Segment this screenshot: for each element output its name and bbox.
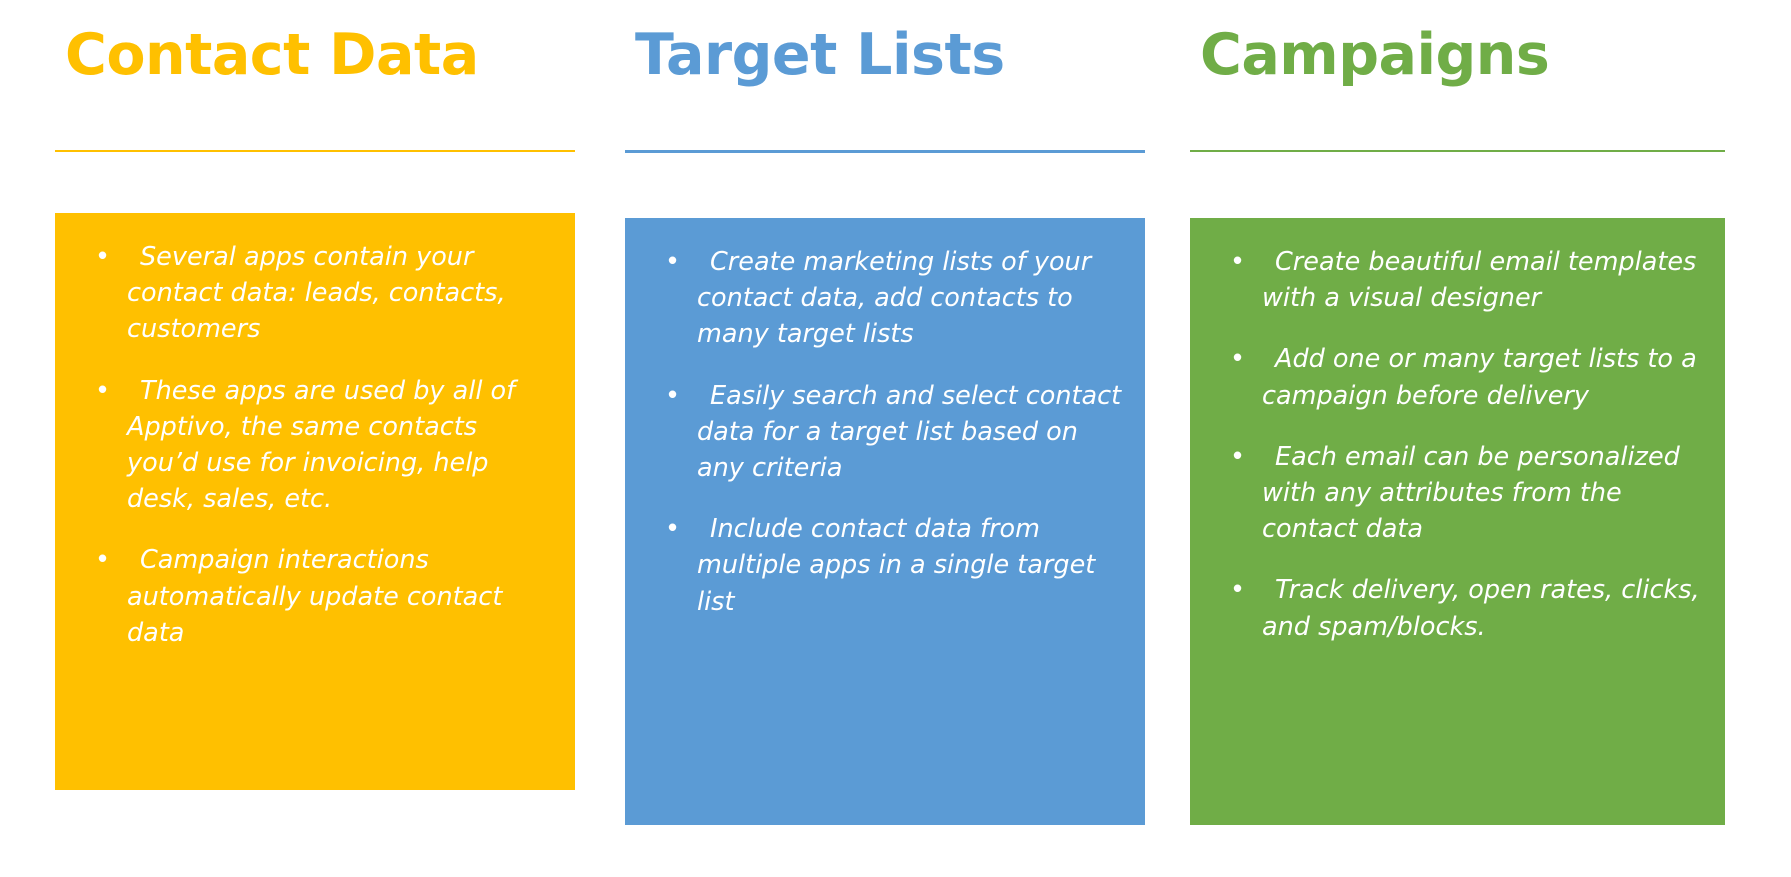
list-item-text: Include contact data from multiple apps … (697, 511, 1123, 620)
list-item-text: Create beautiful email templates with a … (1262, 244, 1703, 316)
bullet-point-icon: • (95, 542, 115, 578)
list-item: • These apps are used by all of Apptivo,… (81, 373, 553, 518)
bullet-point-icon: • (1230, 244, 1250, 280)
column-heading-campaigns: Campaigns (1200, 26, 1549, 86)
heading-divider-contact-data (55, 150, 575, 152)
list-item: • Create beautiful email templates with … (1216, 244, 1703, 316)
bullet-point-icon: • (665, 511, 685, 547)
column-heading-contact-data: Contact Data (65, 26, 479, 86)
bullet-point-icon: • (665, 378, 685, 414)
bullet-list-contact-data: • Several apps contain your contact data… (81, 239, 553, 651)
bullet-point-icon: • (665, 244, 685, 280)
bullet-list-campaigns: • Create beautiful email templates with … (1216, 244, 1703, 645)
content-panel-campaigns: • Create beautiful email templates with … (1190, 218, 1725, 825)
list-item-text: Track delivery, open rates, clicks, and … (1262, 572, 1703, 644)
bullet-list-target-lists: • Create marketing lists of your contact… (651, 244, 1123, 620)
list-item: • Campaign interactions automatically up… (81, 542, 553, 651)
bullet-point-icon: • (1230, 341, 1250, 377)
slide-canvas: Contact Data • Several apps contain your… (0, 0, 1791, 877)
list-item: • Easily search and select contact data … (651, 378, 1123, 487)
bullet-point-icon: • (1230, 439, 1250, 475)
bullet-point-icon: • (1230, 572, 1250, 608)
list-item-text: Easily search and select contact data fo… (697, 378, 1123, 487)
list-item: • Each email can be personalized with an… (1216, 439, 1703, 548)
column-heading-target-lists: Target Lists (635, 26, 1005, 86)
column-contact-data: Contact Data • Several apps contain your… (55, 0, 575, 877)
bullet-point-icon: • (95, 239, 115, 275)
list-item-text: Add one or many target lists to a campai… (1262, 341, 1703, 413)
list-item: • Several apps contain your contact data… (81, 239, 553, 348)
heading-divider-campaigns (1190, 150, 1725, 152)
content-panel-target-lists: • Create marketing lists of your contact… (625, 218, 1145, 825)
heading-divider-target-lists (625, 150, 1145, 153)
list-item: • Include contact data from multiple app… (651, 511, 1123, 620)
list-item: • Add one or many target lists to a camp… (1216, 341, 1703, 413)
list-item-text: Each email can be personalized with any … (1262, 439, 1703, 548)
list-item-text: These apps are used by all of Apptivo, t… (127, 373, 553, 518)
list-item: • Track delivery, open rates, clicks, an… (1216, 572, 1703, 644)
list-item-text: Create marketing lists of your contact d… (697, 244, 1123, 353)
list-item-text: Several apps contain your contact data: … (127, 239, 553, 348)
list-item: • Create marketing lists of your contact… (651, 244, 1123, 353)
column-target-lists: Target Lists • Create marketing lists of… (625, 0, 1145, 877)
content-panel-contact-data: • Several apps contain your contact data… (55, 213, 575, 790)
column-campaigns: Campaigns • Create beautiful email templ… (1190, 0, 1725, 877)
bullet-point-icon: • (95, 373, 115, 409)
list-item-text: Campaign interactions automatically upda… (127, 542, 553, 651)
